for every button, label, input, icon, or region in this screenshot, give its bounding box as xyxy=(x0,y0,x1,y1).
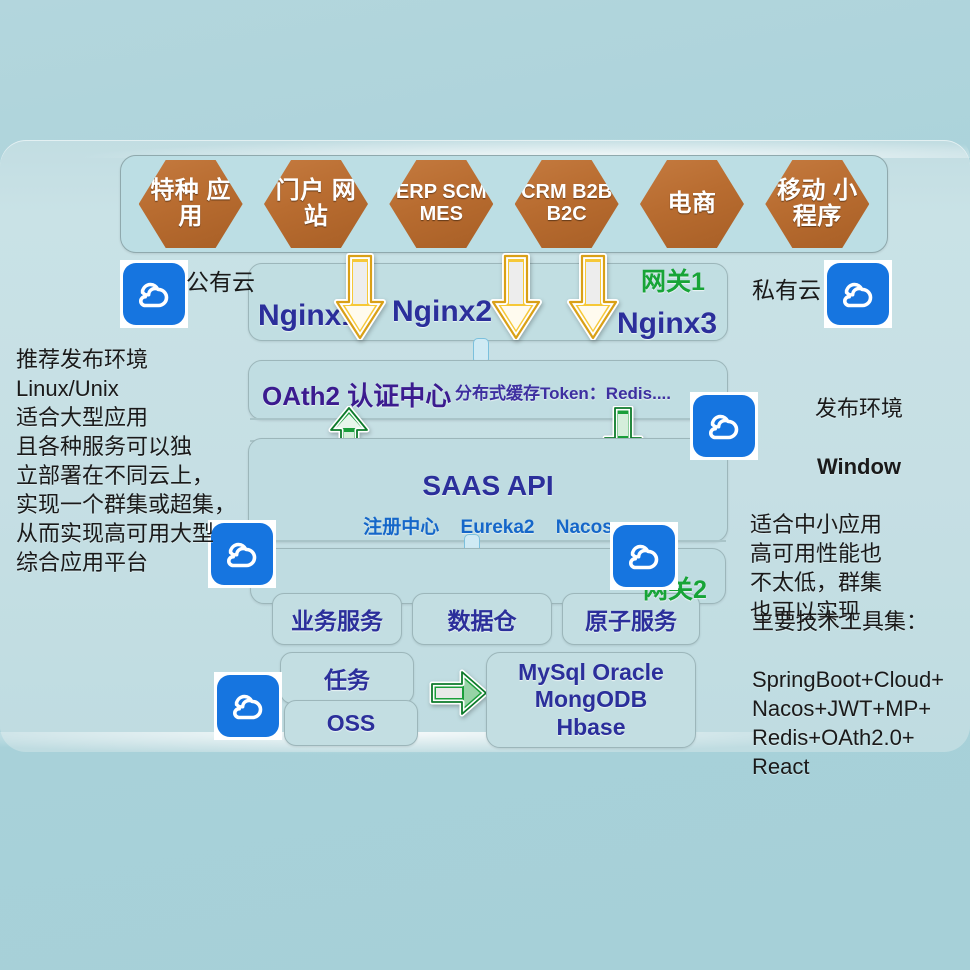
arrow-down-gold-icon xyxy=(567,252,619,345)
nginx2-label: Nginx2 xyxy=(392,295,492,329)
app-hexagon-erp[interactable]: ERP SCM MES xyxy=(389,160,493,248)
nacos-label: Nacos xyxy=(556,517,613,538)
app-hexagon-label: CRM B2B B2C xyxy=(515,182,619,225)
public-cloud-label: 公有云 xyxy=(186,263,255,297)
app-hexagon-label: ERP SCM MES xyxy=(389,182,493,225)
database-box[interactable]: MySql Oracle MongODB Hbase xyxy=(486,652,696,748)
registry-label: 注册中心 xyxy=(363,517,439,538)
cloud-icon-public xyxy=(120,260,188,328)
service-box-business[interactable]: 业务服务 xyxy=(272,593,402,645)
arrow-right-green-icon xyxy=(428,668,490,723)
tech-stack-body: SpringBoot+Cloud+ Nacos+JWT+MP+ Redis+OA… xyxy=(752,665,968,781)
task-box[interactable]: 任务 xyxy=(280,652,414,704)
oss-label: OSS xyxy=(327,710,376,737)
tech-stack-block: 主要技术工具集： SpringBoot+Cloud+ Nacos+JWT+MP+… xyxy=(752,578,968,810)
app-hexagon-special[interactable]: 特种 应用 xyxy=(139,160,243,248)
app-hexagon-label: 电商 xyxy=(663,191,720,217)
right-env-os: Window xyxy=(750,452,968,481)
rail-line-top xyxy=(250,418,726,420)
oss-box[interactable]: OSS xyxy=(284,700,418,746)
database-line-3: Hbase xyxy=(556,714,625,741)
saas-api-title: SAAS API xyxy=(248,470,728,502)
cloud-icon-auth-right xyxy=(690,392,758,460)
tech-stack-title: 主要技术工具集： xyxy=(752,607,968,636)
left-note-text: 推荐发布环境 Linux/Unix 适合大型应用 且各种服务可以独 立部署在不同… xyxy=(16,345,240,577)
app-hexagon-mobile[interactable]: 移动 小程序 xyxy=(765,160,869,248)
cloud-icon-storage xyxy=(214,672,282,740)
auth-token-cache-label: 分布式缓存Token：Redis.... xyxy=(455,379,671,404)
arrow-down-gold-icon xyxy=(490,252,542,345)
arrow-down-gold-icon xyxy=(334,252,386,345)
service-label: 原子服务 xyxy=(585,602,677,636)
private-cloud-label: 私有云 xyxy=(752,271,821,305)
app-hexagon-ecommerce[interactable]: 电商 xyxy=(640,160,744,248)
service-label: 数据仓 xyxy=(448,602,517,636)
service-label: 业务服务 xyxy=(291,602,383,636)
application-hexagon-row: 特种 应用 门户 网站 ERP SCM MES CRM B2B B2C 电商 移… xyxy=(120,155,888,253)
nginx3-label: Nginx3 xyxy=(617,307,717,341)
app-hexagon-label: 特种 应用 xyxy=(139,178,243,230)
database-line-2: MongODB xyxy=(535,686,647,713)
right-env-title: 发布环境 xyxy=(750,394,968,423)
app-hexagon-label: 门户 网站 xyxy=(264,178,368,230)
app-hexagon-portal[interactable]: 门户 网站 xyxy=(264,160,368,248)
gateway1-label: 网关1 xyxy=(641,262,705,298)
cloud-icon-private xyxy=(824,260,892,328)
task-label: 任务 xyxy=(324,661,370,695)
database-line-1: MySql Oracle xyxy=(518,659,664,686)
app-hexagon-label: 移动 小程序 xyxy=(765,178,869,230)
cloud-icon-gateway2 xyxy=(610,522,678,590)
service-box-datawarehouse[interactable]: 数据仓 xyxy=(412,593,552,645)
diagram-canvas: 特种 应用 门户 网站 ERP SCM MES CRM B2B B2C 电商 移… xyxy=(0,0,970,970)
app-hexagon-crm[interactable]: CRM B2B B2C xyxy=(515,160,619,248)
